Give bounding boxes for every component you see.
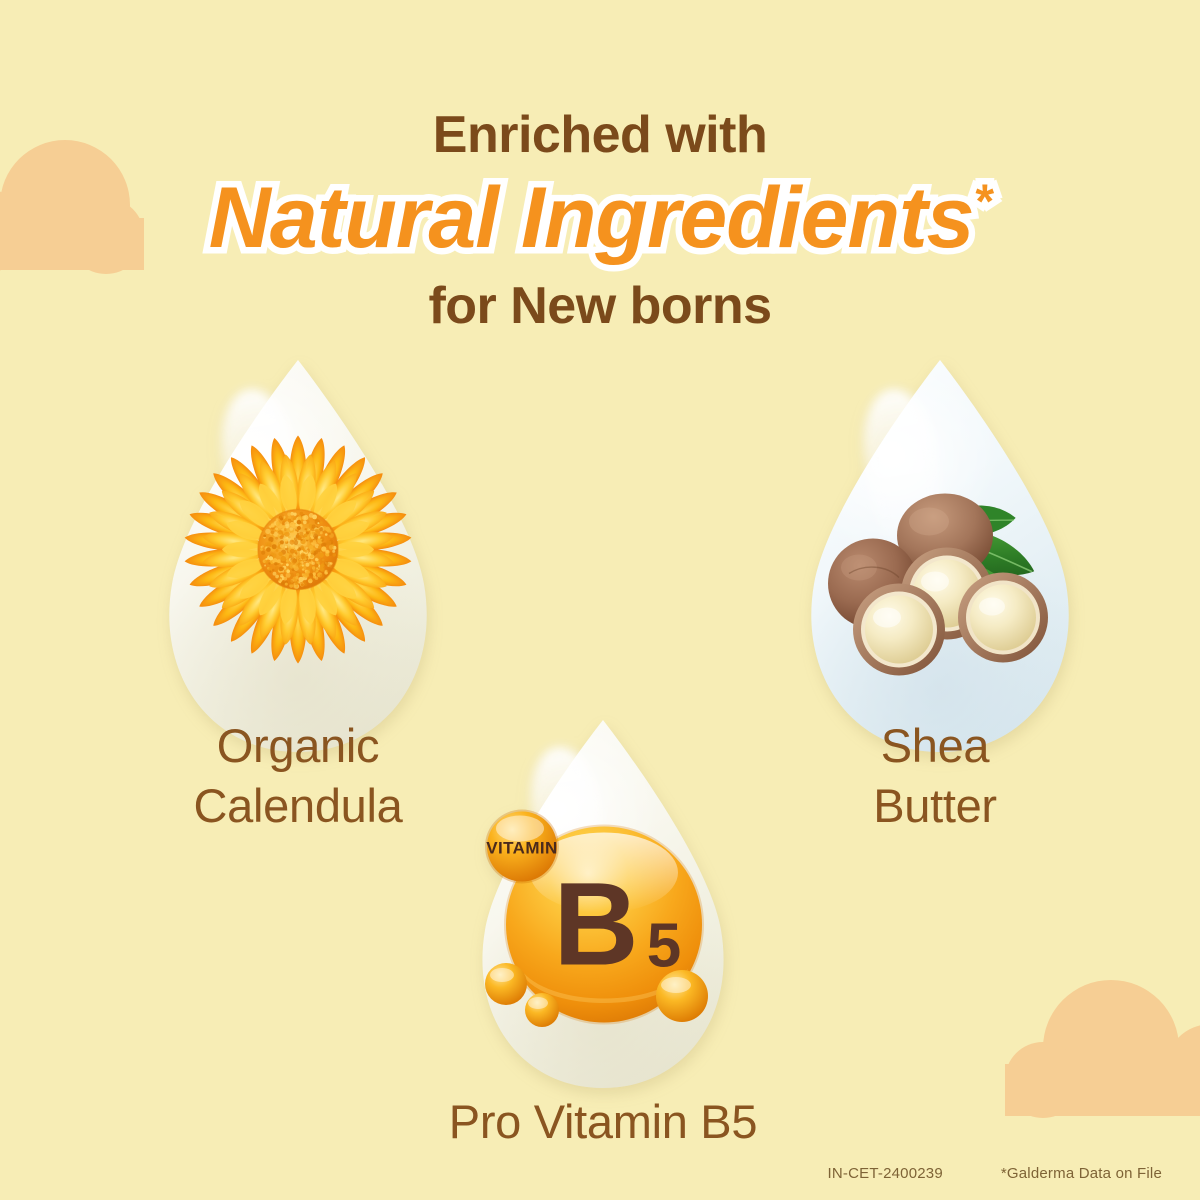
ingredient-droplet-calendula bbox=[148, 352, 448, 752]
headline-line-3: for New borns bbox=[0, 276, 1200, 336]
ingredient-label-line-1: Shea bbox=[735, 716, 1135, 776]
headline-hero-text: Natural Ingredients bbox=[209, 170, 974, 266]
shea-nuts-icon bbox=[825, 478, 1055, 683]
ingredient-droplet-shea bbox=[790, 352, 1090, 752]
droplet-shape: B 5 VITAMIN bbox=[462, 712, 744, 1088]
ingredient-label-line-2: Calendula bbox=[98, 776, 498, 836]
ingredient-label-b5: Pro Vitamin B5 bbox=[403, 1092, 803, 1152]
vitamin-bubbles bbox=[480, 962, 730, 1052]
footer: IN-CET-2400239 *Galderma Data on File bbox=[0, 1165, 1200, 1182]
droplet-shape bbox=[148, 352, 448, 752]
vitamin-badge: VITAMIN bbox=[485, 810, 559, 884]
footer-code: IN-CET-2400239 bbox=[828, 1165, 943, 1182]
footer-disclaimer: *Galderma Data on File bbox=[1001, 1165, 1162, 1182]
headline-hero-superscript: * bbox=[974, 176, 992, 229]
ingredient-label-line-1: Organic bbox=[98, 716, 498, 776]
headline-hero: Natural Ingredients* bbox=[0, 168, 1200, 269]
droplet-shape bbox=[790, 352, 1090, 752]
cloud-decoration-right bbox=[1005, 980, 1200, 1115]
calendula-flower-icon bbox=[173, 425, 423, 680]
headline-line-1: Enriched with bbox=[0, 106, 1200, 164]
ingredient-droplet-b5: B 5 VITAMIN bbox=[462, 712, 744, 1088]
svg-text:VITAMIN: VITAMIN bbox=[486, 839, 557, 858]
headline-block: Enriched with Natural Ingredients* for N… bbox=[0, 106, 1200, 336]
ingredient-label-line-1: Pro Vitamin B5 bbox=[403, 1092, 803, 1152]
ingredient-label-line-2: Butter bbox=[735, 776, 1135, 836]
ingredient-label-calendula: Organic Calendula bbox=[98, 716, 498, 836]
ingredient-label-shea: Shea Butter bbox=[735, 716, 1135, 836]
promo-graphic: Enriched with Natural Ingredients* for N… bbox=[0, 0, 1200, 1200]
